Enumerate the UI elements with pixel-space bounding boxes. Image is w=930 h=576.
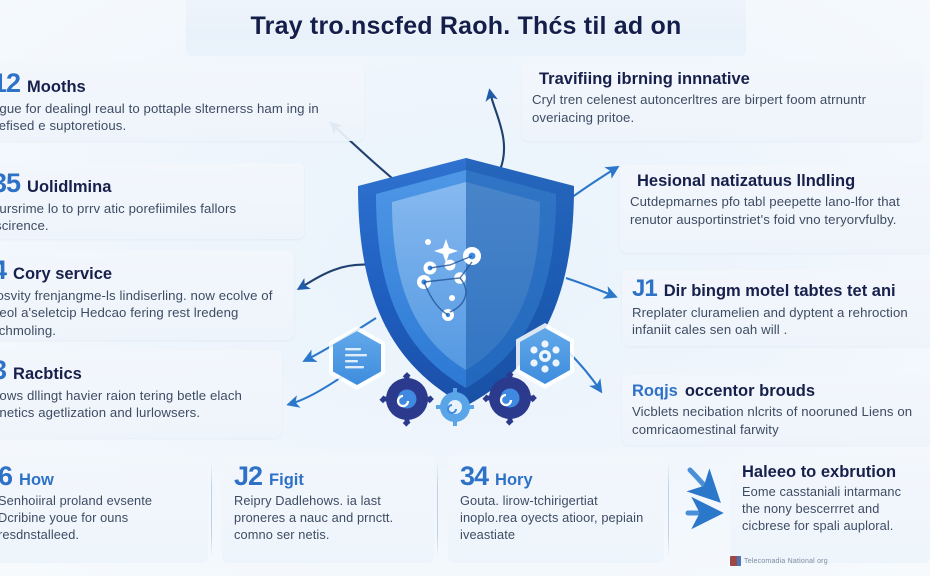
hexagon-badge-left-icon [329, 326, 385, 390]
item-heading: Mooths [27, 78, 86, 96]
right-item-card-2[interactable]: Hesional natizatuus llndling Cutdepmarne… [620, 165, 930, 253]
item-heading: Dir bingm motel tabtes tet ani [664, 282, 896, 300]
left-item-card-4[interactable]: 3 Racbtics dows dllingt havier raion ter… [0, 350, 282, 438]
item-number: J2 [234, 463, 262, 490]
card-head: 35 Uolidlmina [0, 170, 294, 197]
item-body: dows dllingt havier raion tering betle e… [0, 387, 272, 422]
bottom-item-card-4[interactable]: Haleeo to exbrution Eome casstaniali int… [730, 455, 930, 563]
watermark-logo-icon [730, 556, 741, 566]
item-number: 35 [0, 170, 20, 197]
watermark-text: Telecomadia National org [744, 558, 828, 565]
card-head: 4 Cory service [0, 257, 284, 284]
item-body: Senhoiiral proland evsente Dcribine youe… [0, 493, 196, 544]
item-heading: Racbtics [13, 365, 82, 383]
right-item-card-3[interactable]: J1 Dir bingm motel tabtes tet ani Rrepla… [622, 270, 930, 346]
bottom-item-card-2[interactable]: J2 Figit Reipry Dadlehows. ia last prone… [222, 455, 434, 563]
bottom-divider-1 [211, 462, 212, 558]
bottom-divider-3 [668, 462, 669, 558]
item-number: 3 [0, 357, 6, 384]
infographic-canvas: Tray tro.nscfed Raoh. Thćs til ad on 12 … [0, 0, 930, 576]
left-item-card-1[interactable]: 12 Mooths egue for dealingl reaul to pot… [0, 63, 364, 141]
item-number: J1 [632, 277, 657, 301]
item-heading: occentor brouds [685, 382, 815, 400]
card-head: 12 Mooths [0, 70, 354, 97]
item-body: Rreplater cluramelien and dyptent a rehr… [632, 304, 922, 339]
center-halo [340, 150, 592, 402]
item-heading: Hesional natizatuus llndling [637, 172, 855, 190]
item-body: rosvity frenjangme-ls lindiserling. now … [0, 287, 284, 339]
item-body: Gouta. lirow-tchirigertiat inoplo.rea oy… [460, 493, 652, 544]
item-number: Roqjs [632, 382, 678, 400]
item-heading: Uolidlmina [27, 178, 111, 196]
card-head: 3 Racbtics [0, 357, 272, 384]
right-item-card-1[interactable]: Travifiing ibrning innnative Cryl tren c… [522, 63, 922, 141]
item-body: egue for dealingl reaul to pottaple slte… [0, 100, 354, 135]
item-heading: How [19, 471, 54, 489]
card-head: Travifiing ibrning innnative [532, 70, 912, 88]
bottom-item-card-1[interactable]: 6 How Senhoiiral proland evsente Dcribin… [0, 455, 208, 563]
gear-cluster-icon [379, 371, 536, 426]
item-heading: Figit [269, 471, 304, 489]
hexagon-badge-right-icon [516, 323, 574, 389]
item-heading: Travifiing ibrning innnative [539, 70, 750, 88]
item-body: Cutdepmarnes pfo tabl peepette lano-lfor… [630, 193, 922, 228]
left-item-card-3[interactable]: 4 Cory service rosvity frenjangme-ls lin… [0, 250, 294, 340]
card-head: Haleeo to exbrution [742, 463, 918, 481]
card-head: Roqjs occentor brouds [632, 382, 922, 400]
card-head: 34 Hory [460, 463, 652, 490]
right-item-card-4[interactable]: Roqjs occentor brouds Vicblets necibatio… [622, 375, 930, 445]
card-head: J2 Figit [234, 463, 422, 490]
item-heading: Cory service [13, 265, 112, 283]
item-body: Eome casstaniali intarmanc the nony besc… [742, 484, 918, 535]
item-body: oursrime lo to prrv atic porefiimiles fa… [0, 200, 294, 235]
item-number: 6 [0, 463, 12, 490]
item-number: 34 [460, 463, 488, 490]
item-heading: Hory [495, 471, 533, 489]
shield-icon [358, 158, 574, 406]
item-heading: Haleeo to exbrution [742, 463, 896, 481]
item-number: 12 [0, 70, 20, 97]
card-head: Hesional natizatuus llndling [630, 172, 922, 190]
card-head: J1 Dir bingm motel tabtes tet ani [632, 277, 922, 301]
bottom-item-card-3[interactable]: 34 Hory Gouta. lirow-tchirigertiat inopl… [448, 455, 664, 563]
bottom-divider-2 [437, 462, 438, 558]
item-number: 4 [0, 257, 6, 284]
item-body: Reipry Dadlehows. ia last proneres a nau… [234, 493, 422, 544]
item-body: Vicblets necibation nlcrits of nooruned … [632, 403, 922, 438]
left-item-card-2[interactable]: 35 Uolidlmina oursrime lo to prrv atic p… [0, 163, 304, 239]
page-title: Tray tro.nscfed Raoh. Thćs til ad on [186, 12, 746, 41]
network-nodes-icon [417, 239, 481, 321]
item-body: Cryl tren celenest autoncerltres are bir… [532, 91, 912, 126]
watermark: Telecomadia National org [730, 556, 828, 566]
card-head: 6 How [0, 463, 196, 490]
